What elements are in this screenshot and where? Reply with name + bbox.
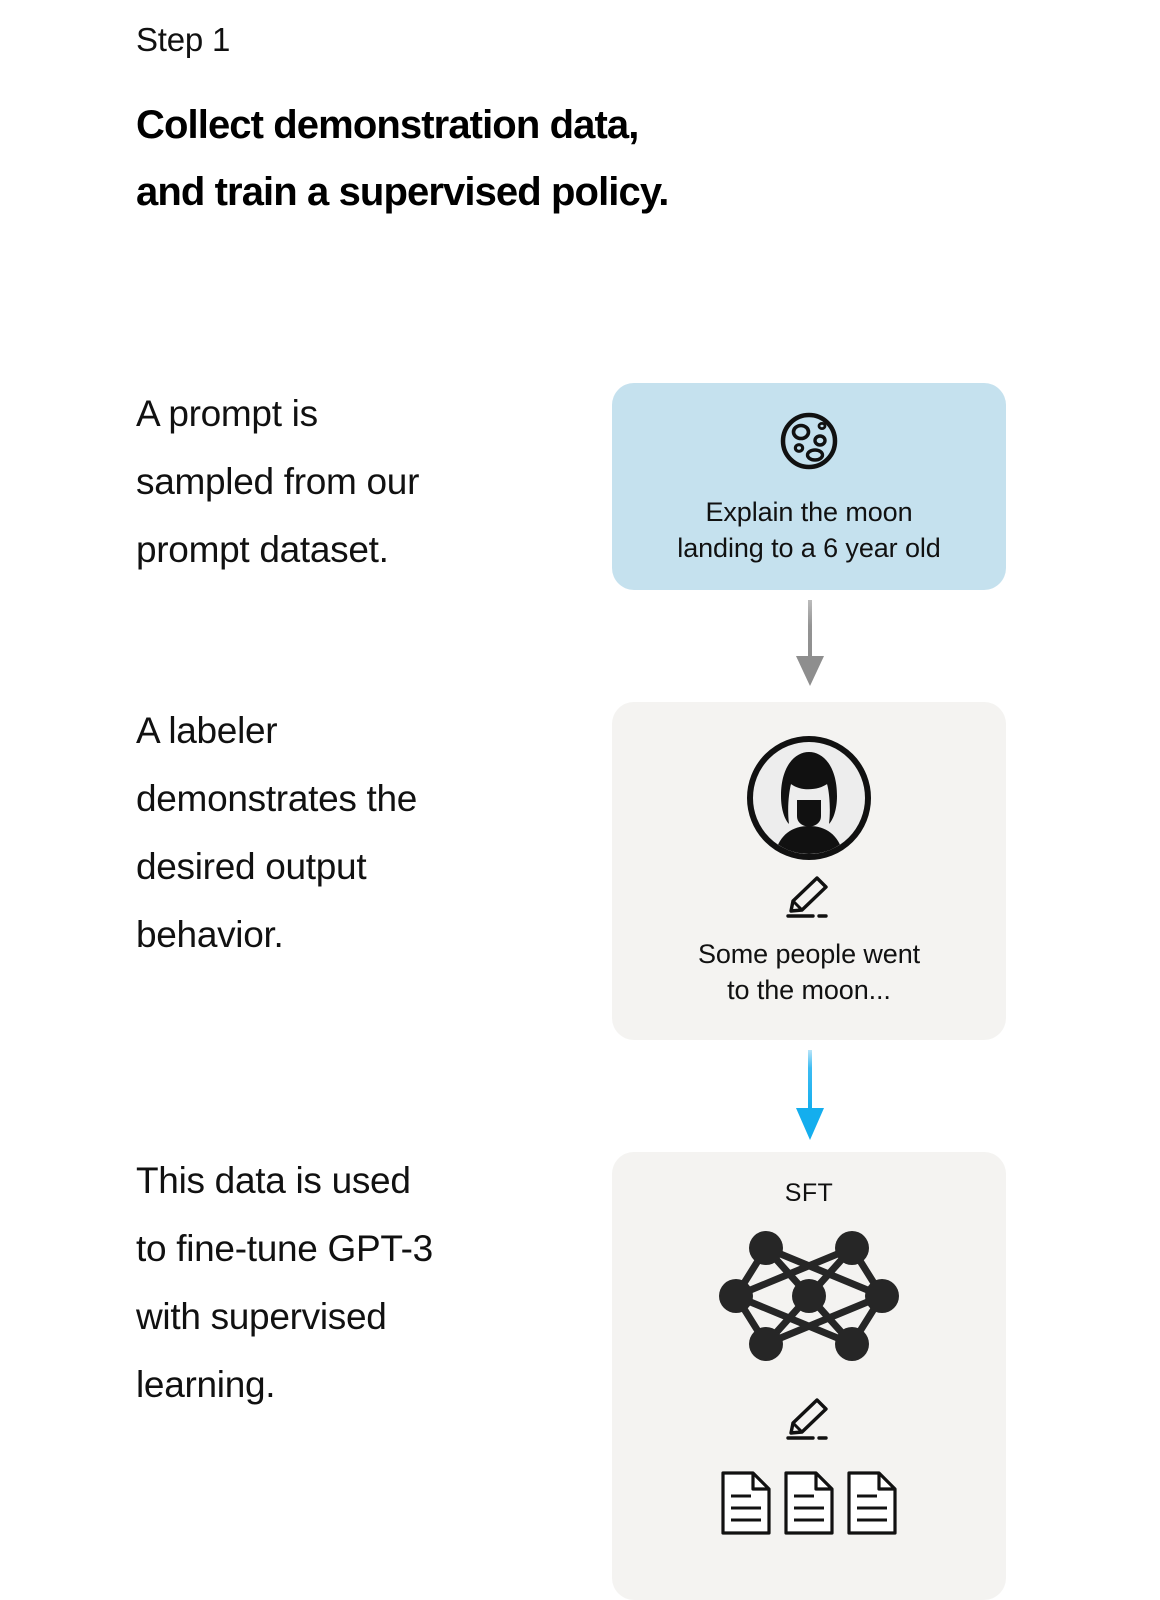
description-line: prompt dataset. xyxy=(136,516,596,584)
description-line: This data is used xyxy=(136,1147,596,1215)
pencil-icon xyxy=(783,873,835,926)
arrow-down-blue xyxy=(788,1050,832,1142)
step-label: Step 1 xyxy=(136,20,230,60)
pencil-icon xyxy=(783,1395,835,1448)
description-line: A labeler xyxy=(136,697,596,765)
headline-line-1: Collect demonstration data, xyxy=(136,92,668,159)
sft-label: SFT xyxy=(785,1178,833,1208)
description-line: with supervised xyxy=(136,1283,596,1351)
description-line: learning. xyxy=(136,1351,596,1419)
diagram-page: Step 1 Collect demonstration data, and t… xyxy=(0,0,1160,1600)
person-avatar-icon xyxy=(745,734,873,867)
description-line: to fine-tune GPT-3 xyxy=(136,1215,596,1283)
headline-line-2: and train a supervised policy. xyxy=(136,159,668,226)
caption-line: landing to a 6 year old xyxy=(677,530,940,566)
neural-network-icon xyxy=(718,1226,900,1371)
caption-line: to the moon... xyxy=(698,972,920,1008)
prompt-card-caption: Explain the moon landing to a 6 year old xyxy=(677,494,940,566)
description-line: sampled from our xyxy=(136,448,596,516)
moon-icon xyxy=(777,409,841,478)
arrow-down-gray xyxy=(788,600,832,690)
caption-line: Some people went xyxy=(698,936,920,972)
sft-card: SFT xyxy=(612,1152,1006,1600)
documents-group xyxy=(719,1470,899,1541)
page-title: Collect demonstration data, and train a … xyxy=(136,92,668,226)
prompt-card: Explain the moon landing to a 6 year old xyxy=(612,383,1006,590)
labeler-card: Some people went to the moon... xyxy=(612,702,1006,1040)
labeler-card-caption: Some people went to the moon... xyxy=(698,936,920,1008)
document-icon xyxy=(782,1470,836,1541)
document-icon xyxy=(719,1470,773,1541)
document-icon xyxy=(845,1470,899,1541)
description-line: demonstrates the xyxy=(136,765,596,833)
description-finetune-gpt3: This data is used to fine-tune GPT-3 wit… xyxy=(136,1147,596,1419)
caption-line: Explain the moon xyxy=(677,494,940,530)
description-line: desired output xyxy=(136,833,596,901)
description-line: A prompt is xyxy=(136,380,596,448)
description-labeler-demonstrates: A labeler demonstrates the desired outpu… xyxy=(136,697,596,969)
description-line: behavior. xyxy=(136,901,596,969)
description-prompt-sampled: A prompt is sampled from our prompt data… xyxy=(136,380,596,584)
